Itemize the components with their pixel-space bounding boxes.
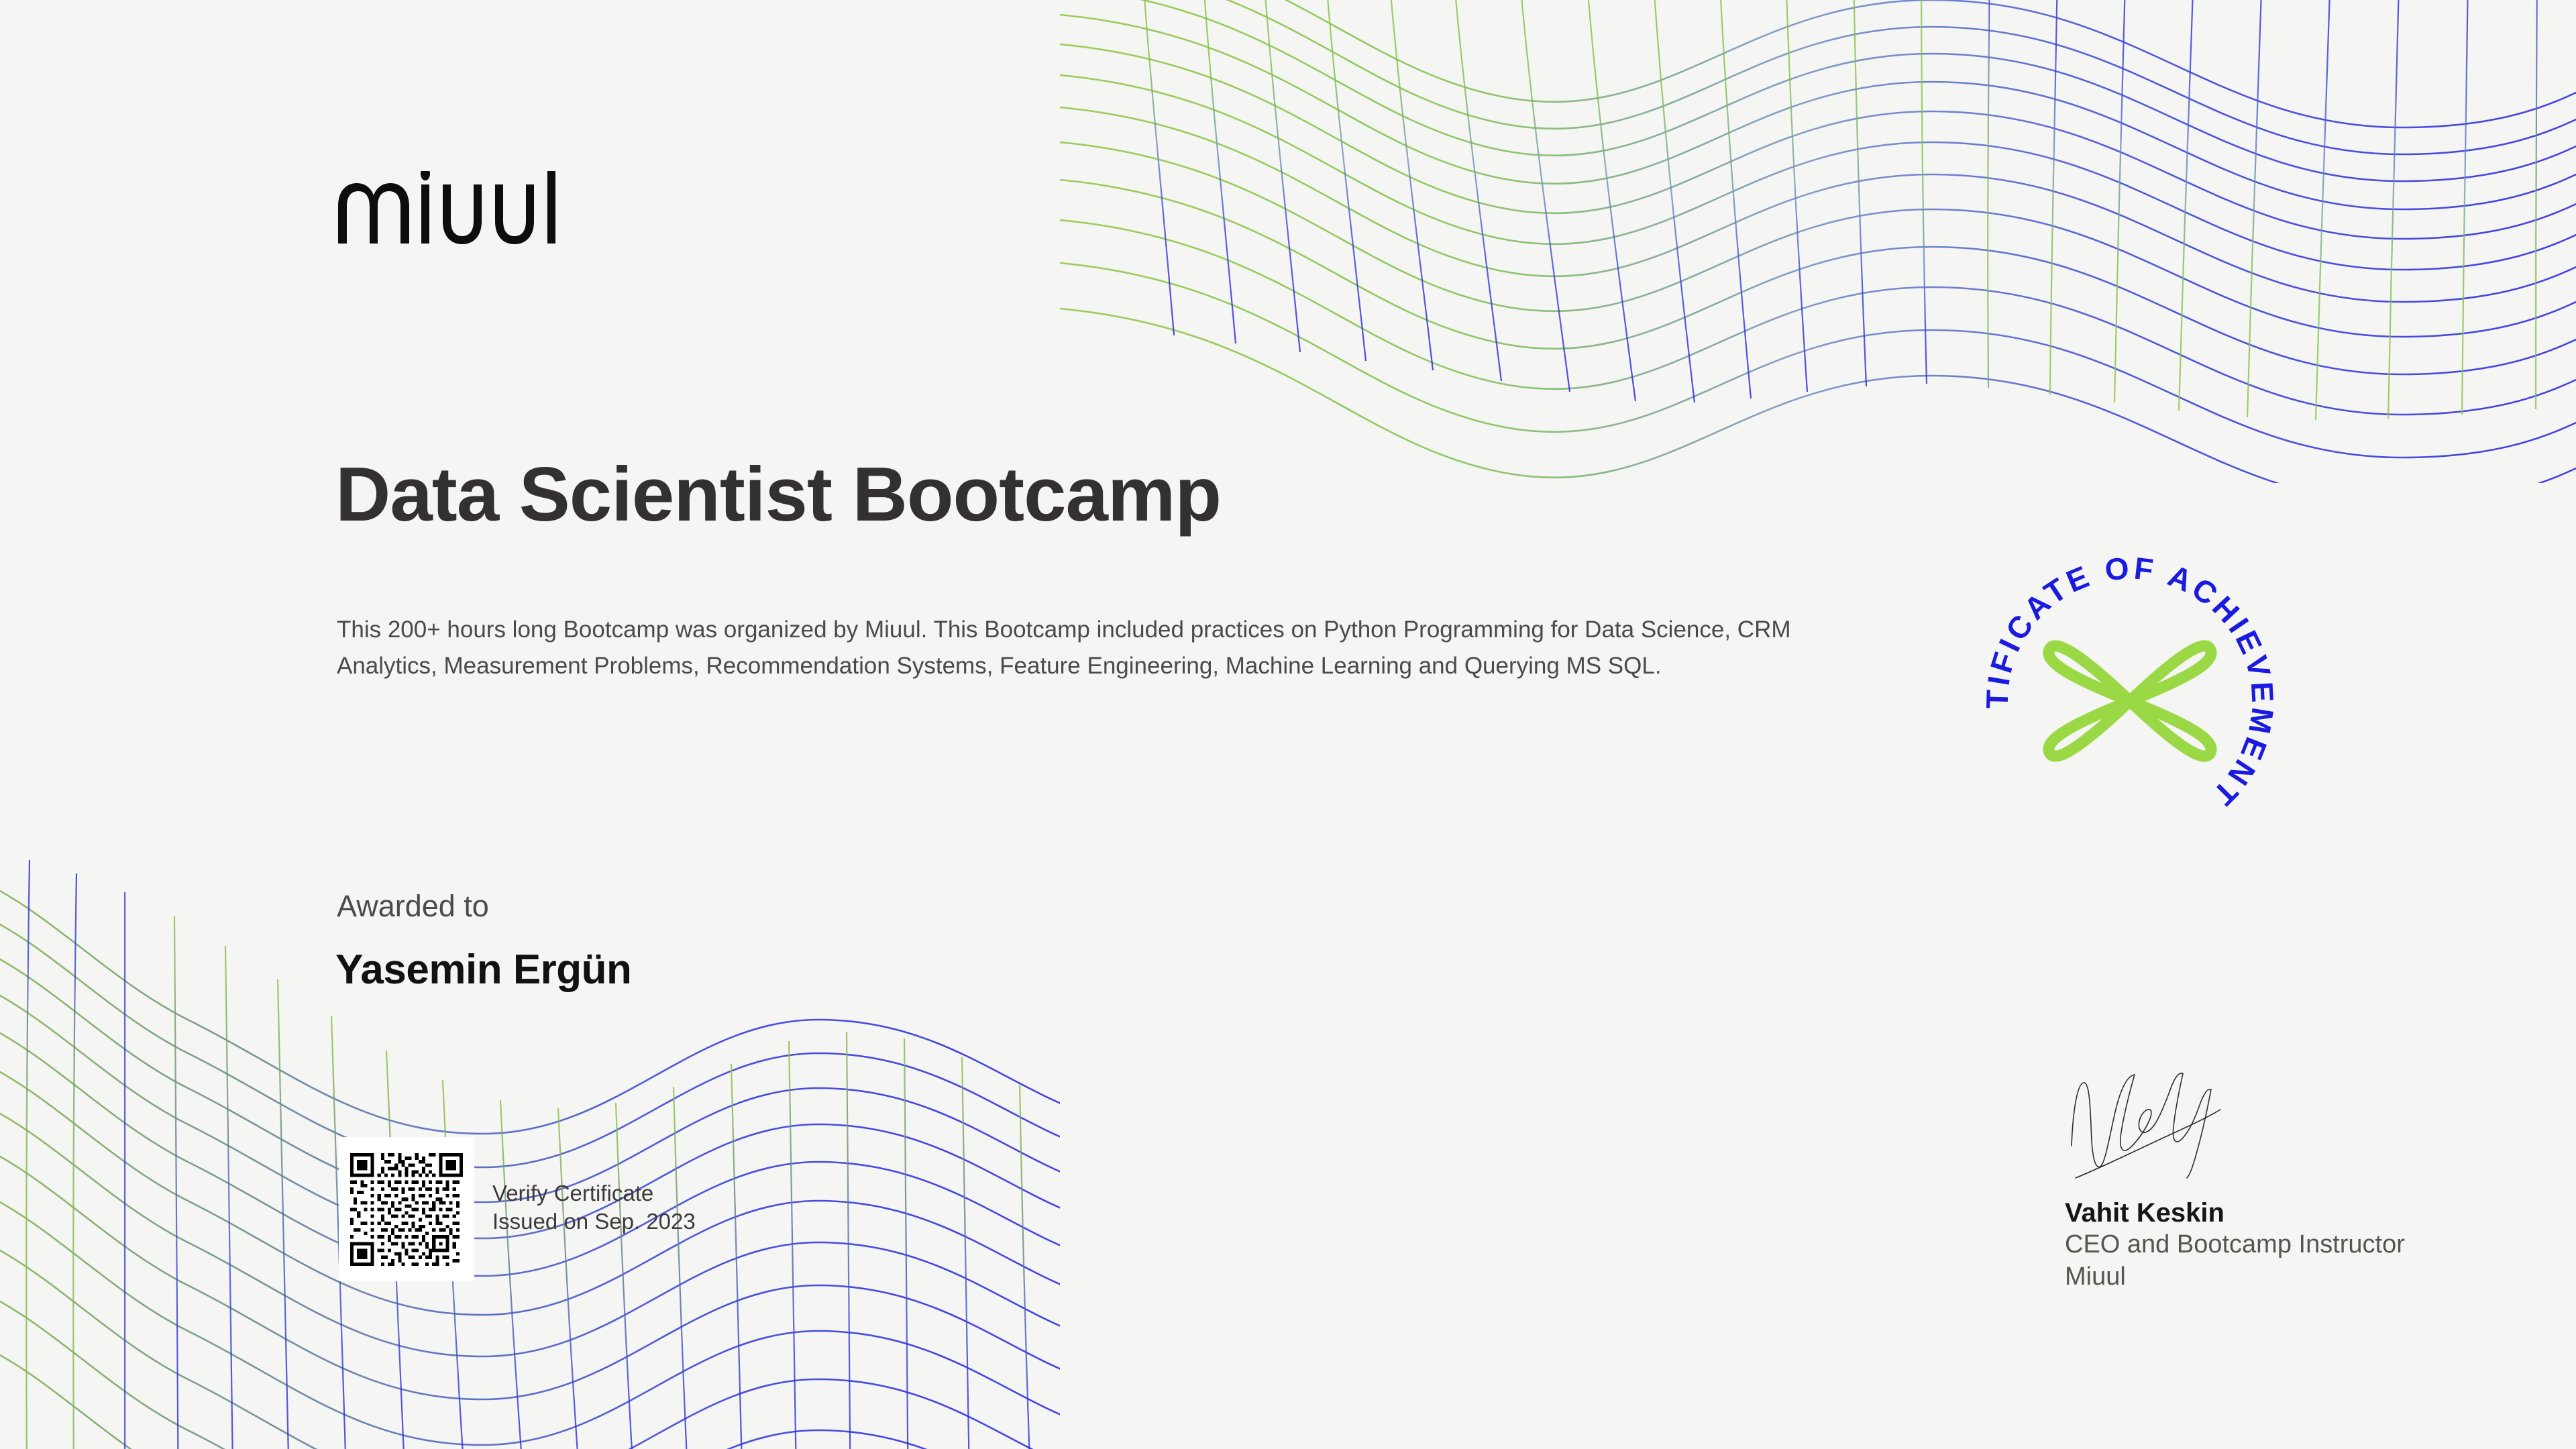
signer-name: Vahit Keskin — [2065, 1198, 2481, 1228]
issued-on-label: Issued on Sep. 2023 — [492, 1207, 696, 1236]
verify-certificate-label: Verify Certificate — [492, 1179, 696, 1207]
miuul-logo — [335, 171, 584, 245]
certificate-seal: CERTIFICATE OF ACHIEVEMENT — [1966, 537, 2294, 865]
awarded-to-label: Awarded to — [337, 889, 489, 924]
signature-block: Vahit Keskin CEO and Bootcamp Instructor… — [2065, 1065, 2481, 1293]
recipient-name: Yasemin Ergün — [335, 946, 631, 994]
certificate-title: Data Scientist Bootcamp — [335, 451, 1221, 539]
handwritten-signature — [2065, 1065, 2266, 1186]
seal-petal-mark — [2045, 627, 2214, 775]
qr-card — [339, 1137, 474, 1281]
qr-code-icon[interactable] — [350, 1153, 463, 1266]
verification-block[interactable]: Verify Certificate Issued on Sep. 2023 — [339, 1137, 696, 1281]
certificate-page: Data Scientist Bootcamp This 200+ hours … — [0, 0, 2576, 1449]
signer-role: CEO and Bootcamp Instructor — [2065, 1228, 2481, 1260]
signer-organization: Miuul — [2065, 1260, 2481, 1293]
decorative-mesh-top-right — [1060, 0, 2576, 483]
seal-ring-text: CERTIFICATE OF ACHIEVEMENT — [1966, 537, 2281, 814]
decorative-mesh-bottom-left — [0, 818, 1060, 1449]
verification-text: Verify Certificate Issued on Sep. 2023 — [492, 1179, 696, 1240]
certificate-description: This 200+ hours long Bootcamp was organi… — [337, 612, 1893, 684]
